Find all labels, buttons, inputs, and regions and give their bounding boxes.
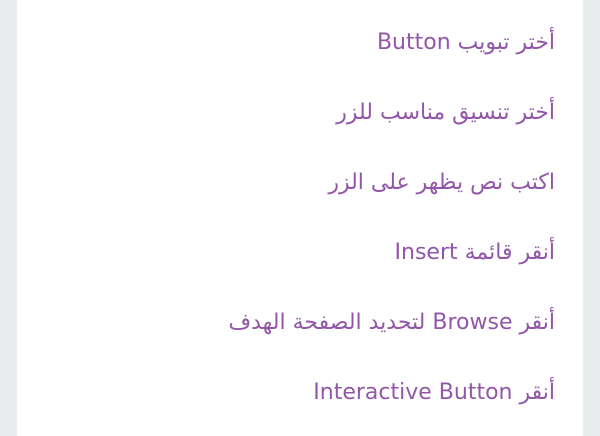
instruction-line-1: أختر تبويب Button xyxy=(27,8,555,78)
instruction-line-5: أنقر Browse لتحديد الصفحة الهدف xyxy=(27,288,555,358)
instruction-list: أختر تبويب Button أختر تنسيق مناسب للزر … xyxy=(17,0,583,428)
instruction-line-6: أنقر Interactive Button xyxy=(27,358,555,428)
instruction-line-4: أنقر قائمة Insert xyxy=(27,218,555,288)
page-gutter-left xyxy=(0,0,17,436)
document-page: أختر تبويب Button أختر تنسيق مناسب للزر … xyxy=(17,0,583,436)
instruction-line-3: اكتب نص يظهر على الزر xyxy=(27,148,555,218)
page-gutter-right xyxy=(583,0,600,436)
instruction-line-2: أختر تنسيق مناسب للزر xyxy=(27,78,555,148)
screenshot-root: أختر تبويب Button أختر تنسيق مناسب للزر … xyxy=(0,0,600,436)
